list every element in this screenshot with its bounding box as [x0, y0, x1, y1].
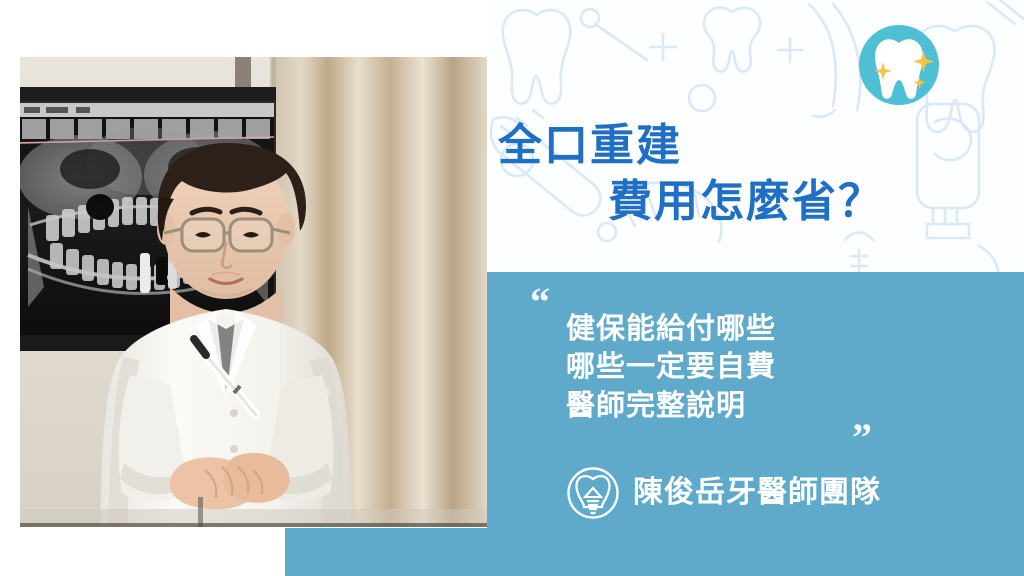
quote-line-3: 醫師完整說明	[566, 387, 926, 425]
quote-line-1: 健保能給付哪些	[566, 310, 926, 348]
quote-close-mark: ”	[852, 418, 872, 458]
clinic-logo: 陳俊岳牙醫師團隊	[566, 466, 881, 520]
banner-canvas: 全口重建 費用怎麼省？ “ 健保能給付哪些 哪些一定要自費 醫師完整說明 ”	[0, 0, 1024, 576]
sparkling-tooth-icon	[857, 23, 941, 107]
quote-open-mark: “	[530, 282, 550, 322]
tooth-implant-svg	[566, 466, 620, 520]
headline: 全口重建 費用怎麼省？	[498, 118, 928, 231]
dentist-photo	[20, 57, 487, 527]
clinic-name: 陳俊岳牙醫師團隊	[633, 478, 881, 508]
dentist-photo-svg	[20, 57, 487, 527]
quote-text: 健保能給付哪些 哪些一定要自費 醫師完整說明	[566, 310, 926, 425]
blue-bottom-bar	[285, 528, 487, 576]
tooth-implant-icon	[566, 466, 620, 520]
headline-line-1: 全口重建	[498, 118, 928, 174]
headline-line-2: 費用怎麼省？	[498, 174, 928, 230]
sparkling-tooth-svg	[857, 23, 941, 107]
quote-line-2: 哪些一定要自費	[566, 348, 926, 386]
